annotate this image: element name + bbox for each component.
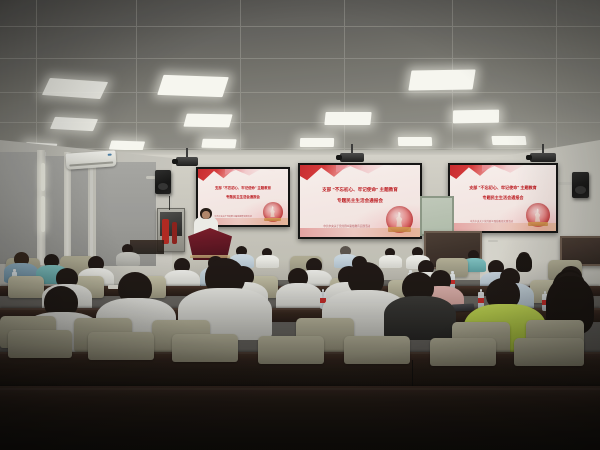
center-projection-screen[interactable]: 支部 "不忘初心、牢记使命" 主题教育 专题民主生活会通报会 中共中央关于党的群… [298, 163, 422, 239]
right-projection-screen[interactable]: 支部 "不忘初心、牢记使命" 主题教育 专题民主生活会通报会 中共中央关于党的群… [448, 163, 558, 233]
chair[interactable] [8, 276, 44, 298]
slide-bottom-band [450, 223, 556, 231]
slide-subtitle: 专题民主生活会通报会 [456, 195, 549, 200]
ceiling-light [453, 110, 499, 124]
wall-fixture [488, 240, 498, 242]
ceiling-light [183, 114, 232, 128]
wall-cable [169, 196, 170, 210]
wall-speaker-left [155, 170, 171, 194]
chair[interactable] [88, 332, 154, 360]
attendee-shoulders [379, 255, 402, 268]
slide-subtitle: 专题民主生活会通报会 [203, 195, 282, 199]
ac-vent [69, 161, 113, 166]
ceiling-light [408, 69, 475, 90]
attendee-shoulders [116, 252, 140, 266]
chair[interactable] [514, 338, 584, 366]
projector-right [530, 144, 556, 165]
ceiling-light [201, 139, 236, 149]
ceiling-light [50, 117, 98, 131]
ceiling-light [398, 137, 432, 146]
projector-left [176, 148, 198, 168]
chair[interactable] [430, 338, 496, 366]
ceiling-light [157, 75, 229, 97]
slide-subtitle: 专题民主生活会通报会 [307, 198, 413, 204]
slide-title: 支部 "不忘初心、牢记使命" 主题教育 [307, 187, 413, 193]
chair[interactable] [8, 330, 72, 358]
chair[interactable] [344, 336, 410, 364]
wall-speaker-right [572, 172, 589, 198]
projector-center [340, 144, 364, 164]
slide-title: 支部 "不忘初心、牢记使命" 主题教育 [456, 185, 549, 191]
attendee-shoulders [256, 255, 279, 268]
ceiling-light [491, 136, 526, 145]
conference-room-photo: 支部 "不忘初心、牢记使命" 主题教育 专题民主生活会通报会 中共中央关于党的群… [0, 0, 600, 450]
flag-ribbon-graphic [482, 165, 541, 182]
ceiling-light [300, 138, 334, 147]
wall-board-left [420, 196, 454, 236]
desk-front-panel-foreground [0, 408, 600, 450]
chair[interactable] [258, 336, 324, 364]
ceiling-light [324, 112, 371, 125]
chair[interactable] [172, 334, 238, 362]
wall-lamp [41, 163, 45, 191]
wall-lamp [41, 196, 45, 232]
attendee-hair [516, 254, 532, 272]
flag-ribbon-graphic [225, 169, 275, 184]
slide-title: 支部 "不忘初心、牢记使命" 主题教育 [203, 186, 282, 191]
slide-bottom-band [300, 228, 420, 237]
flag-ribbon-graphic [336, 165, 403, 184]
window-blinds[interactable] [0, 152, 40, 264]
attendee-shoulders [384, 296, 456, 340]
presenter-face [202, 211, 210, 219]
fire-extinguisher [172, 222, 178, 245]
ac-indicator [108, 154, 112, 156]
